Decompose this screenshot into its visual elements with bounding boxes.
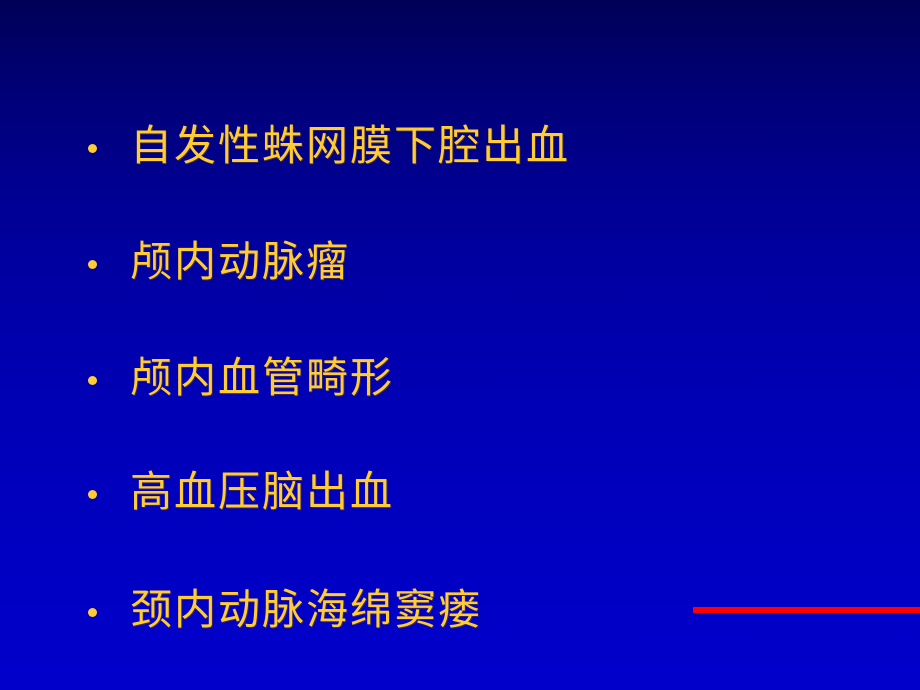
- list-item: 高血压脑出血: [88, 464, 394, 520]
- presentation-slide: 自发性蛛网膜下腔出血 颅内动脉瘤 颅内血管畸形 高血压脑出血 颈内动脉海绵窦瘘: [0, 0, 920, 690]
- bullet-dot-icon: [88, 376, 97, 385]
- bullet-dot-icon: [88, 260, 97, 269]
- bullet-text: 颈内动脉海绵窦瘘: [130, 589, 482, 631]
- list-item: 自发性蛛网膜下腔出血: [88, 118, 570, 174]
- bullet-text: 自发性蛛网膜下腔出血: [130, 125, 570, 167]
- bullet-text: 颅内动脉瘤: [130, 241, 350, 283]
- bullet-dot-icon: [88, 490, 97, 499]
- bullet-text: 高血压脑出血: [130, 471, 394, 513]
- list-item: 颅内动脉瘤: [88, 234, 350, 290]
- red-accent-rule: [693, 607, 920, 613]
- bullet-text: 颅内血管畸形: [130, 357, 394, 399]
- bullet-list: 自发性蛛网膜下腔出血 颅内动脉瘤 颅内血管畸形 高血压脑出血 颈内动脉海绵窦瘘: [0, 0, 920, 690]
- bullet-dot-icon: [88, 144, 97, 153]
- bullet-dot-icon: [88, 608, 97, 617]
- list-item: 颅内血管畸形: [88, 350, 394, 406]
- list-item: 颈内动脉海绵窦瘘: [88, 582, 482, 638]
